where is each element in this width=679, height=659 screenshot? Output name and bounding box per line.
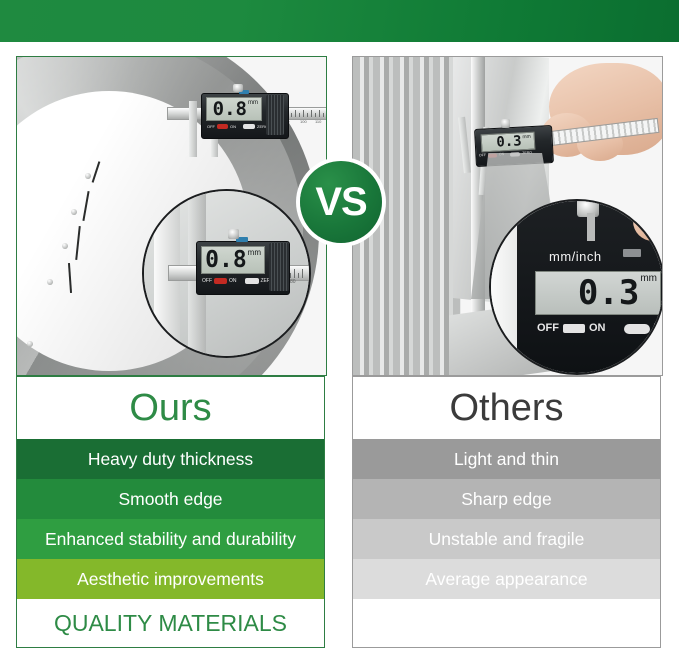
inset-knob-stem <box>587 213 595 241</box>
ours-feature-row-4: Aesthetic improvements <box>17 559 324 599</box>
ours-footnote: QUALITY MATERIALS <box>54 610 287 637</box>
caliper-lock-knob <box>501 119 510 128</box>
inset-caliper-on-label: ON <box>229 279 237 284</box>
inset-caliper-on-label: ON <box>589 323 606 334</box>
caliper-on-label: ON <box>230 125 236 129</box>
left-photo-column: 80 100 110 0.8 mm OFF ON ZERO <box>16 56 327 376</box>
others-feature-row-3: Unstable and fragile <box>353 519 660 559</box>
others-feature-rows: Light and thin Sharp edge Unstable and f… <box>353 439 660 599</box>
others-feature-label-1: Light and thin <box>454 449 559 470</box>
caliper-lock-knob <box>233 84 243 92</box>
caliper-display: 0.8 mm <box>206 97 262 121</box>
ours-feature-row-3: Enhanced stability and durability <box>17 519 324 559</box>
inset-caliper-display: 0.3 mm <box>535 271 661 315</box>
caliper-off-label: OFF <box>479 154 486 158</box>
ours-feature-rows: Heavy duty thickness Smooth edge Enhance… <box>17 439 324 599</box>
inset-caliper-display: 0.8 mm <box>201 246 265 274</box>
caliper-jaw <box>458 117 471 173</box>
caliper-thumbwheel <box>266 95 284 135</box>
inset-mode-label: mm/inch <box>549 249 602 264</box>
caliper-off-label: OFF <box>207 125 215 129</box>
rivet <box>47 279 53 285</box>
ours-title: Ours <box>129 387 211 430</box>
caliper-display: 0.3 mm <box>481 132 536 153</box>
ours-comparison-box: Ours Heavy duty thickness Smooth edge En… <box>16 376 325 648</box>
rivet <box>85 173 91 179</box>
right-photo-column: 0.3 mm OFF ON ZERO mm <box>352 56 663 376</box>
ours-feature-label-3: Enhanced stability and durability <box>45 529 296 550</box>
inset-caliper-power-switch <box>214 278 227 284</box>
inset-caliper-indicator <box>623 249 641 257</box>
ours-feature-label-1: Heavy duty thickness <box>88 449 253 470</box>
caliper-power-switch <box>217 124 228 129</box>
caliper-unit: mm <box>248 100 258 106</box>
inset-caliper-unit: mm <box>248 249 261 257</box>
inset-digital-caliper: 80 0.8 mm OFF ON ZERO <box>168 223 311 313</box>
others-feature-row-4: Average appearance <box>353 559 660 599</box>
top-green-band <box>0 0 679 42</box>
inset-caliper-reading: 0.3 <box>578 276 639 310</box>
others-feature-row-2: Sharp edge <box>353 479 660 519</box>
digital-caliper: 80 100 110 0.8 mm OFF ON ZERO <box>167 79 327 159</box>
inset-ruler-number: 80 <box>290 279 296 285</box>
others-product-photo: 0.3 mm OFF ON ZERO mm <box>352 56 663 376</box>
rivet <box>71 209 77 215</box>
vs-label: VS <box>315 180 366 225</box>
inset-caliper-unit: mm <box>640 274 657 284</box>
ours-feature-label-4: Aesthetic improvements <box>77 569 264 590</box>
ours-title-row: Ours <box>17 377 324 439</box>
inset-caliper-thumbwheel <box>269 243 289 291</box>
caliper-button-row: OFF ON ZERO <box>207 124 268 129</box>
others-comparison-box: Others Light and thin Sharp edge Unstabl… <box>352 376 661 648</box>
comparison-infographic: 80 100 110 0.8 mm OFF ON ZERO <box>0 0 679 659</box>
inset-caliper-off-label: OFF <box>537 323 559 334</box>
others-feature-row-1: Light and thin <box>353 439 660 479</box>
ruler-number: 110 <box>315 119 321 124</box>
others-feature-label-4: Average appearance <box>425 569 587 590</box>
inset-caliper-button-row: OFF ON ZERO <box>537 323 663 334</box>
magnified-caliper-inset: 80 0.8 mm OFF ON ZERO <box>142 189 311 358</box>
inset-caliper-off-label: OFF <box>202 279 212 284</box>
inset-caliper-zero-switch <box>245 278 259 284</box>
inset-caliper-lock-knob <box>228 229 239 239</box>
magnified-caliper-inset: mm/inch 0.3 mm OFF ON ZERO <box>489 199 663 375</box>
caliper-jaw <box>189 101 197 157</box>
inset-caliper-zero-switch <box>624 324 650 334</box>
caliper-reading: 0.3 <box>496 134 522 149</box>
vs-badge: VS <box>300 161 382 243</box>
ruler-number: 100 <box>300 119 307 124</box>
others-title-row: Others <box>353 377 660 439</box>
others-title: Others <box>449 387 563 430</box>
rivet <box>27 341 33 347</box>
caliper-zero-switch <box>243 124 255 129</box>
caliper-unit: mm <box>522 135 531 140</box>
ours-footnote-row: QUALITY MATERIALS <box>17 599 324 647</box>
others-feature-label-2: Sharp edge <box>461 489 552 510</box>
inset-caliper-power-switch <box>563 324 585 333</box>
caliper-beam <box>541 118 660 147</box>
inset-caliper-zero-label: ZERO <box>654 323 664 334</box>
inset-caliper-reading: 0.8 <box>205 249 247 272</box>
ours-feature-row-1: Heavy duty thickness <box>17 439 324 479</box>
ours-feature-row-2: Smooth edge <box>17 479 324 519</box>
caliper-reading: 0.8 <box>213 100 247 119</box>
rivet <box>62 243 68 249</box>
ours-feature-label-2: Smooth edge <box>118 489 222 510</box>
others-footnote-row <box>353 599 660 647</box>
others-feature-label-3: Unstable and fragile <box>429 529 585 550</box>
ours-product-photo: 80 100 110 0.8 mm OFF ON ZERO <box>16 56 327 376</box>
inset-caliper-button-row: OFF ON ZERO <box>202 278 274 284</box>
